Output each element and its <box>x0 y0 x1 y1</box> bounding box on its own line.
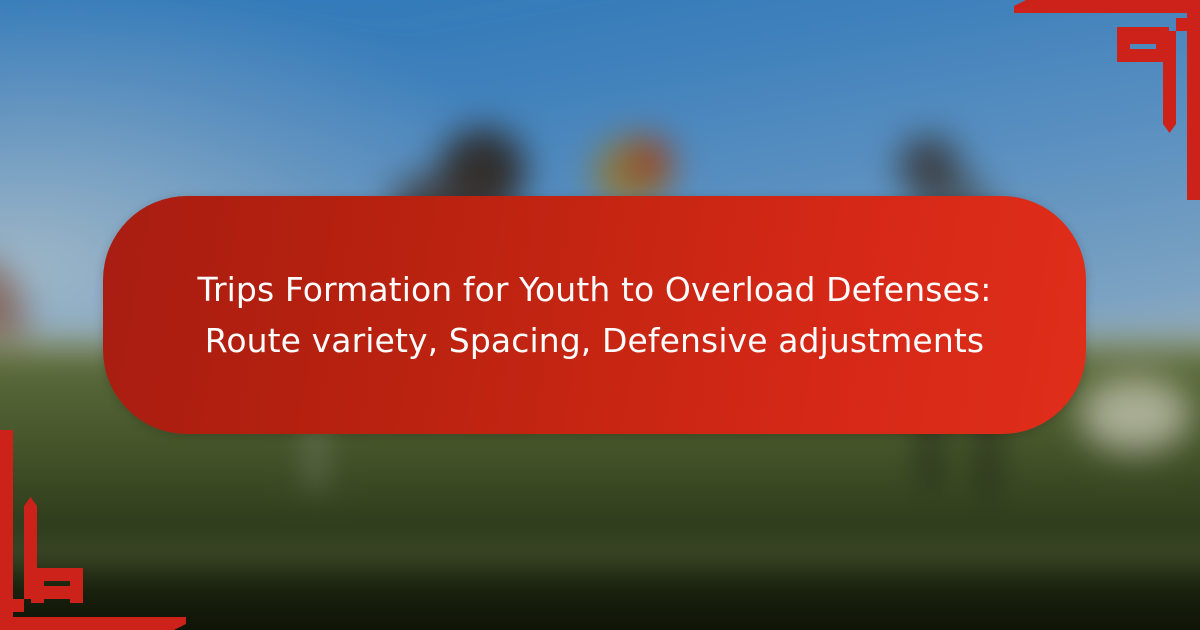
background-bright-patch-right <box>1080 378 1190 452</box>
page-title-line-1: Trips Formation for Youth to Overload De… <box>198 270 992 309</box>
background-field-band <box>0 545 1200 573</box>
page-title-line-2: Route variety, Spacing, Defensive adjust… <box>205 321 984 360</box>
title-banner: Trips Formation for Youth to Overload De… <box>103 196 1086 434</box>
page-title: Trips Formation for Youth to Overload De… <box>198 264 992 366</box>
background-player-helmet-2-accent <box>628 136 672 186</box>
poster-canvas: Trips Formation for Youth to Overload De… <box>0 0 1200 630</box>
